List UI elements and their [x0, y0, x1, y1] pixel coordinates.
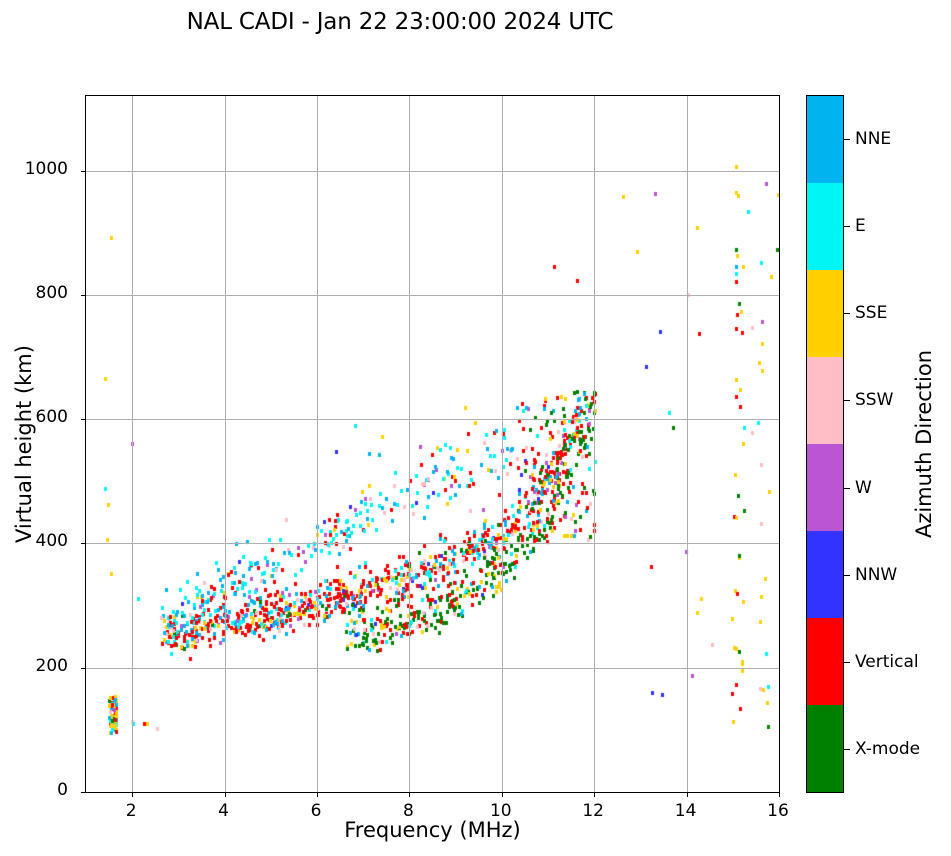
- y-tick-label: 400: [36, 531, 68, 551]
- page-title: NAL CADI - Jan 22 23:00:00 2024 UTC: [0, 9, 800, 35]
- y-tick-mark: [81, 543, 86, 544]
- colorbar-tick-mark: [844, 575, 850, 576]
- colorbar-tick-mark: [844, 313, 850, 314]
- colorbar-label-ssw: SSW: [855, 390, 893, 410]
- colorbar[interactable]: [806, 95, 844, 793]
- colorbar-tick-mark: [844, 662, 850, 663]
- colorbar-segment-nne[interactable]: [807, 96, 843, 183]
- colorbar-segment-nnw[interactable]: [807, 531, 843, 618]
- y-axis-title: Virtual height (km): [12, 95, 36, 793]
- colorbar-title-wrap: Azimuth Direction: [912, 95, 942, 793]
- y-tick-marks: [86, 96, 779, 792]
- y-axis-title-wrap: Virtual height (km): [12, 95, 36, 793]
- colorbar-segment-ssw[interactable]: [807, 357, 843, 444]
- colorbar-label-nnw: NNW: [855, 565, 897, 585]
- colorbar-tick-mark: [844, 226, 850, 227]
- colorbar-label-vertical: Vertical: [855, 652, 919, 672]
- colorbar-label-nne: NNE: [855, 129, 891, 149]
- x-axis-title: Frequency (MHz): [85, 818, 780, 842]
- colorbar-segment-w[interactable]: [807, 444, 843, 531]
- colorbar-label-e: E: [855, 216, 866, 236]
- colorbar-segment-e[interactable]: [807, 183, 843, 270]
- colorbar-tick-mark: [844, 400, 850, 401]
- y-tick-mark: [81, 668, 86, 669]
- y-tick-label: 0: [57, 780, 68, 800]
- y-tick-label: 600: [36, 407, 68, 427]
- plot-area: [85, 95, 780, 793]
- colorbar-title: Azimuth Direction: [912, 95, 936, 793]
- y-tick-label: 800: [36, 283, 68, 303]
- colorbar-tick-mark: [844, 139, 850, 140]
- colorbar-label-x-mode: X-mode: [855, 739, 920, 759]
- y-tick-mark: [81, 295, 86, 296]
- colorbar-tick-mark: [844, 488, 850, 489]
- ionogram-page: NAL CADI - Jan 22 23:00:00 2024 UTC 0200…: [0, 0, 951, 856]
- colorbar-tick-mark: [844, 749, 850, 750]
- colorbar-segment-vertical[interactable]: [807, 618, 843, 705]
- y-tick-mark: [81, 419, 86, 420]
- colorbar-label-sse: SSE: [855, 303, 887, 323]
- y-tick-mark: [81, 171, 86, 172]
- y-tick-label: 200: [36, 656, 68, 676]
- colorbar-segment-sse[interactable]: [807, 270, 843, 357]
- colorbar-segment-x-mode[interactable]: [807, 705, 843, 792]
- colorbar-label-w: W: [855, 478, 872, 498]
